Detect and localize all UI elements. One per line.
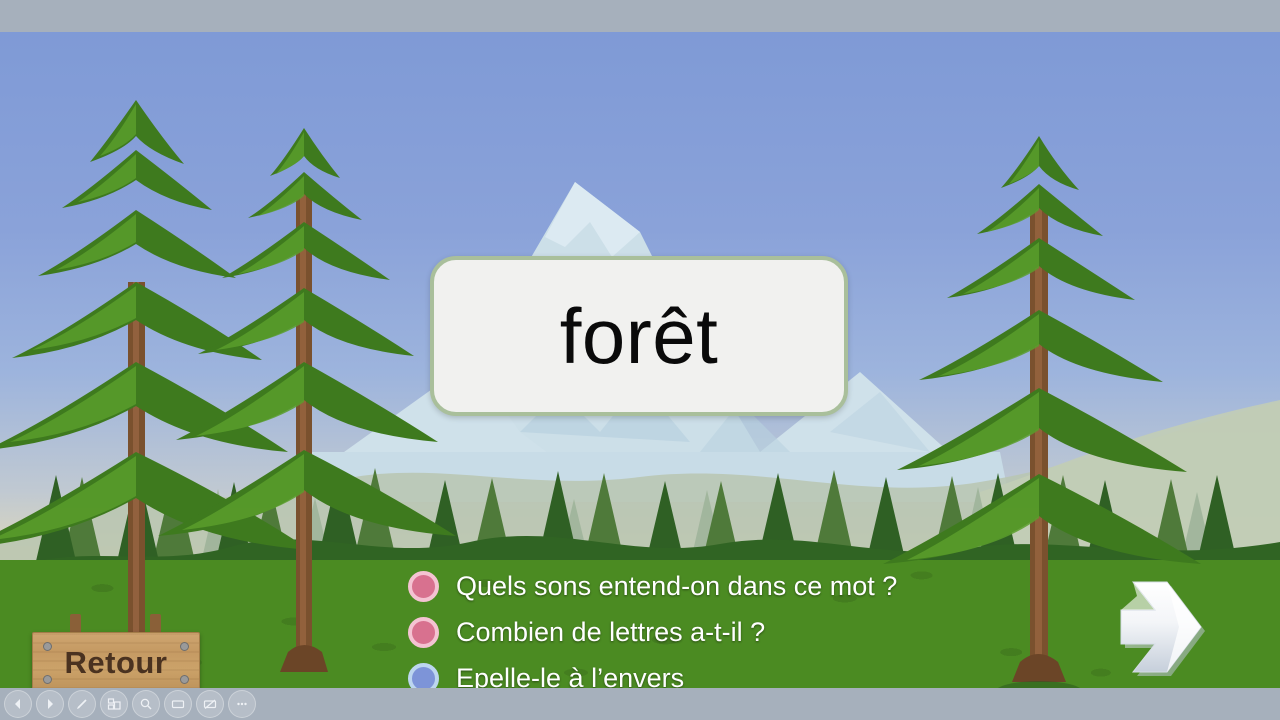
question-text: Epelle-le à l’envers [456, 665, 684, 689]
screw-icon [180, 675, 189, 684]
triangle-left-icon [12, 698, 24, 710]
zoom-tool-button[interactable] [132, 690, 160, 718]
ellipsis-icon [235, 697, 249, 711]
previous-slide-button[interactable] [4, 690, 32, 718]
question-text: Quels sons entend-on dans ce mot ? [456, 573, 897, 600]
sign-board: Retour [32, 632, 200, 688]
word-card[interactable]: forêt [430, 256, 848, 416]
slide-overview-button[interactable] [100, 690, 128, 718]
blank-screen-button[interactable] [196, 690, 224, 718]
bullet-dot-icon [408, 663, 439, 689]
back-sign-button[interactable]: Retour [30, 600, 200, 688]
question-row[interactable]: Quels sons entend-on dans ce mot ? [408, 564, 1108, 608]
grid-slides-icon [107, 697, 121, 711]
slide-stage: forêt Quels sons entend-on dans ce mot ?… [0, 32, 1280, 688]
presentation-window: forêt Quels sons entend-on dans ce mot ?… [0, 0, 1280, 720]
word-text: forêt [560, 297, 719, 375]
question-row[interactable]: Combien de lettres a-t-il ? [408, 610, 1108, 654]
show-screen-button[interactable] [164, 690, 192, 718]
screw-icon [43, 675, 52, 684]
question-list: Quels sons entend-on dans ce mot ? Combi… [408, 564, 1108, 688]
bullet-dot-icon [408, 571, 439, 602]
question-text: Combien de lettres a-t-il ? [456, 619, 765, 646]
next-arrow-button[interactable] [1115, 572, 1255, 682]
pen-tool-button[interactable] [68, 690, 96, 718]
next-slide-button[interactable] [36, 690, 64, 718]
triangle-right-icon [44, 698, 56, 710]
magnifier-icon [139, 697, 153, 711]
more-options-button[interactable] [228, 690, 256, 718]
back-label: Retour [65, 645, 168, 681]
screen-icon [171, 697, 185, 711]
double-chevron-right-icon [1121, 582, 1205, 676]
bullet-dot-icon [408, 617, 439, 648]
pen-icon [75, 697, 89, 711]
question-row[interactable]: Epelle-le à l’envers [408, 656, 1108, 688]
top-chrome-bar [0, 0, 1280, 32]
screw-icon [43, 642, 52, 651]
presentation-toolbar [0, 688, 256, 720]
screen-off-icon [203, 697, 217, 711]
screw-icon [180, 642, 189, 651]
